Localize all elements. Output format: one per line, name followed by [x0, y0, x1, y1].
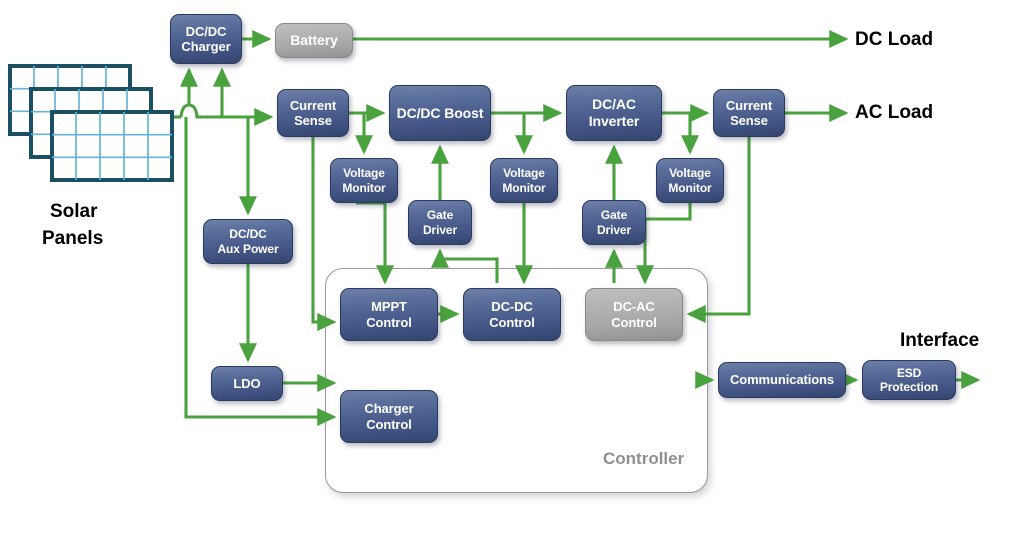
- dc-load-label: DC Load: [855, 29, 933, 51]
- charger-control-line-1: Charger: [341, 401, 437, 416]
- ldo-block[interactable]: LDO: [211, 366, 283, 401]
- dcdc-control-block[interactable]: DC-DC Control: [463, 288, 561, 341]
- gate-driver-block-2[interactable]: Gate Driver: [582, 200, 646, 245]
- ac-load-label: AC Load: [855, 102, 933, 124]
- dcdc-control-line-2: Control: [464, 315, 560, 330]
- battery-block[interactable]: Battery: [275, 23, 353, 58]
- ldo-label: LDO: [212, 376, 282, 391]
- voltage-monitor-3-line-1: Voltage: [657, 166, 723, 180]
- esd-protection-block[interactable]: ESD Protection: [862, 360, 956, 400]
- solar-panels-label-line2: Panels: [42, 228, 103, 250]
- dcdc-boost-label: DC/DC Boost: [390, 105, 490, 122]
- dcdc-charger-block[interactable]: DC/DC Charger: [170, 14, 242, 64]
- current-sense-2-line-1: Current: [714, 98, 784, 113]
- current-sense-2-line-2: Sense: [714, 113, 784, 128]
- charger-control-block[interactable]: Charger Control: [340, 390, 438, 443]
- dcdc-boost-block[interactable]: DC/DC Boost: [389, 85, 491, 141]
- current-sense-block-2[interactable]: Current Sense: [713, 89, 785, 137]
- gate-driver-2-line-1: Gate: [583, 208, 645, 222]
- voltage-monitor-1-line-1: Voltage: [331, 166, 397, 180]
- dcdc-aux-line-1: DC/DC: [204, 227, 292, 241]
- voltage-monitor-3-line-2: Monitor: [657, 181, 723, 195]
- voltage-monitor-block-2[interactable]: Voltage Monitor: [490, 158, 558, 203]
- dcdc-aux-power-block[interactable]: DC/DC Aux Power: [203, 219, 293, 264]
- solar-power-system-diagram: Controller DC/DC Charger Battery Current…: [0, 0, 1017, 540]
- esd-protection-line-2: Protection: [863, 380, 955, 394]
- current-sense-block-1[interactable]: Current Sense: [277, 89, 349, 137]
- gate-driver-1-line-2: Driver: [409, 223, 471, 237]
- dcdc-charger-line-1: DC/DC: [171, 24, 241, 39]
- communications-label: Communications: [719, 372, 845, 387]
- mppt-control-line-2: Control: [341, 315, 437, 330]
- solar-panel-stack: [0, 0, 1017, 540]
- charger-control-line-2: Control: [341, 417, 437, 432]
- voltage-monitor-block-1[interactable]: Voltage Monitor: [330, 158, 398, 203]
- dcdc-aux-line-2: Aux Power: [204, 242, 292, 256]
- solar-panel-front: [52, 112, 172, 180]
- mppt-control-line-1: MPPT: [341, 299, 437, 314]
- dcac-inverter-block[interactable]: DC/AC Inverter: [566, 85, 662, 141]
- dcac-control-block[interactable]: DC-AC Control: [585, 288, 683, 341]
- gate-driver-2-line-2: Driver: [583, 223, 645, 237]
- controller-label: Controller: [603, 449, 684, 469]
- gate-driver-1-line-1: Gate: [409, 208, 471, 222]
- gate-driver-block-1[interactable]: Gate Driver: [408, 200, 472, 245]
- battery-label: Battery: [276, 32, 352, 49]
- dcdc-charger-line-2: Charger: [171, 39, 241, 54]
- interface-label: Interface: [900, 330, 979, 352]
- mppt-control-block[interactable]: MPPT Control: [340, 288, 438, 341]
- dcac-inverter-line-1: DC/AC: [567, 96, 661, 113]
- dcac-control-line-2: Control: [586, 315, 682, 330]
- solar-panels-label-line1: Solar: [50, 201, 98, 223]
- dcdc-control-line-1: DC-DC: [464, 299, 560, 314]
- current-sense-1-line-2: Sense: [278, 113, 348, 128]
- dcac-inverter-line-2: Inverter: [567, 113, 661, 130]
- esd-protection-line-1: ESD: [863, 366, 955, 380]
- current-sense-1-line-1: Current: [278, 98, 348, 113]
- communications-block[interactable]: Communications: [718, 362, 846, 398]
- voltage-monitor-2-line-1: Voltage: [491, 166, 557, 180]
- dcac-control-line-1: DC-AC: [586, 299, 682, 314]
- voltage-monitor-block-3[interactable]: Voltage Monitor: [656, 158, 724, 203]
- voltage-monitor-2-line-2: Monitor: [491, 181, 557, 195]
- voltage-monitor-1-line-2: Monitor: [331, 181, 397, 195]
